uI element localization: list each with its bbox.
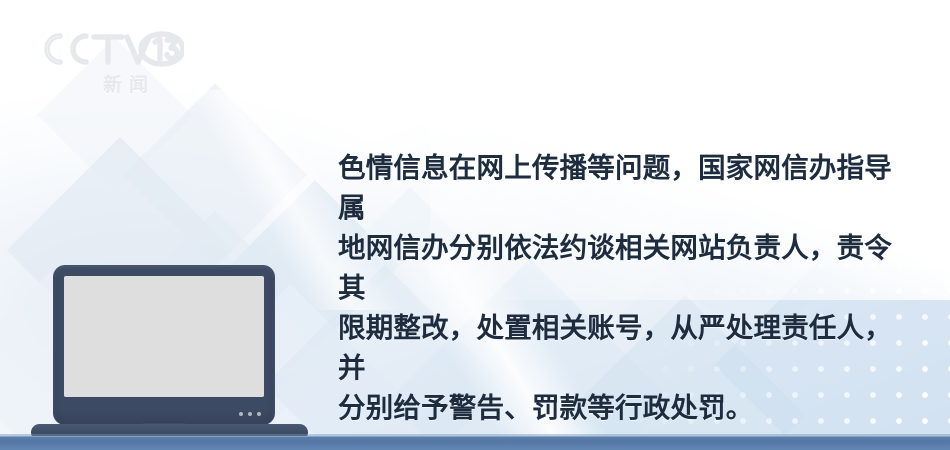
- cctv13-logo: 新闻: [34, 26, 184, 98]
- desk-band: [0, 436, 950, 450]
- caption-line-3: 限期整改，处置相关账号，从严处理责任人，并: [338, 308, 894, 388]
- monitor-bezel: [53, 265, 275, 425]
- monitor-indicator-dots: [239, 412, 261, 416]
- caption-line-1: 色情信息在网上传播等问题，国家网信办指导属: [338, 148, 894, 228]
- cctv13-logo-subtitle: 新闻: [86, 70, 172, 97]
- monitor-illustration: [53, 265, 275, 425]
- monitor-screen: [64, 276, 264, 397]
- caption-line-4: 分别给予警告、罚款等行政处罚。: [338, 388, 894, 428]
- caption-block: 色情信息在网上传播等问题，国家网信办指导属 地网信办分别依法约谈相关网站负责人，…: [338, 148, 894, 428]
- news-graphic-stage: 新闻 色情信息在网上传播等问题，国家网信办指导属 地网信办分别依法约谈相关网站负…: [0, 0, 950, 450]
- caption-line-2: 地网信办分别依法约谈相关网站负责人，责令其: [338, 228, 894, 308]
